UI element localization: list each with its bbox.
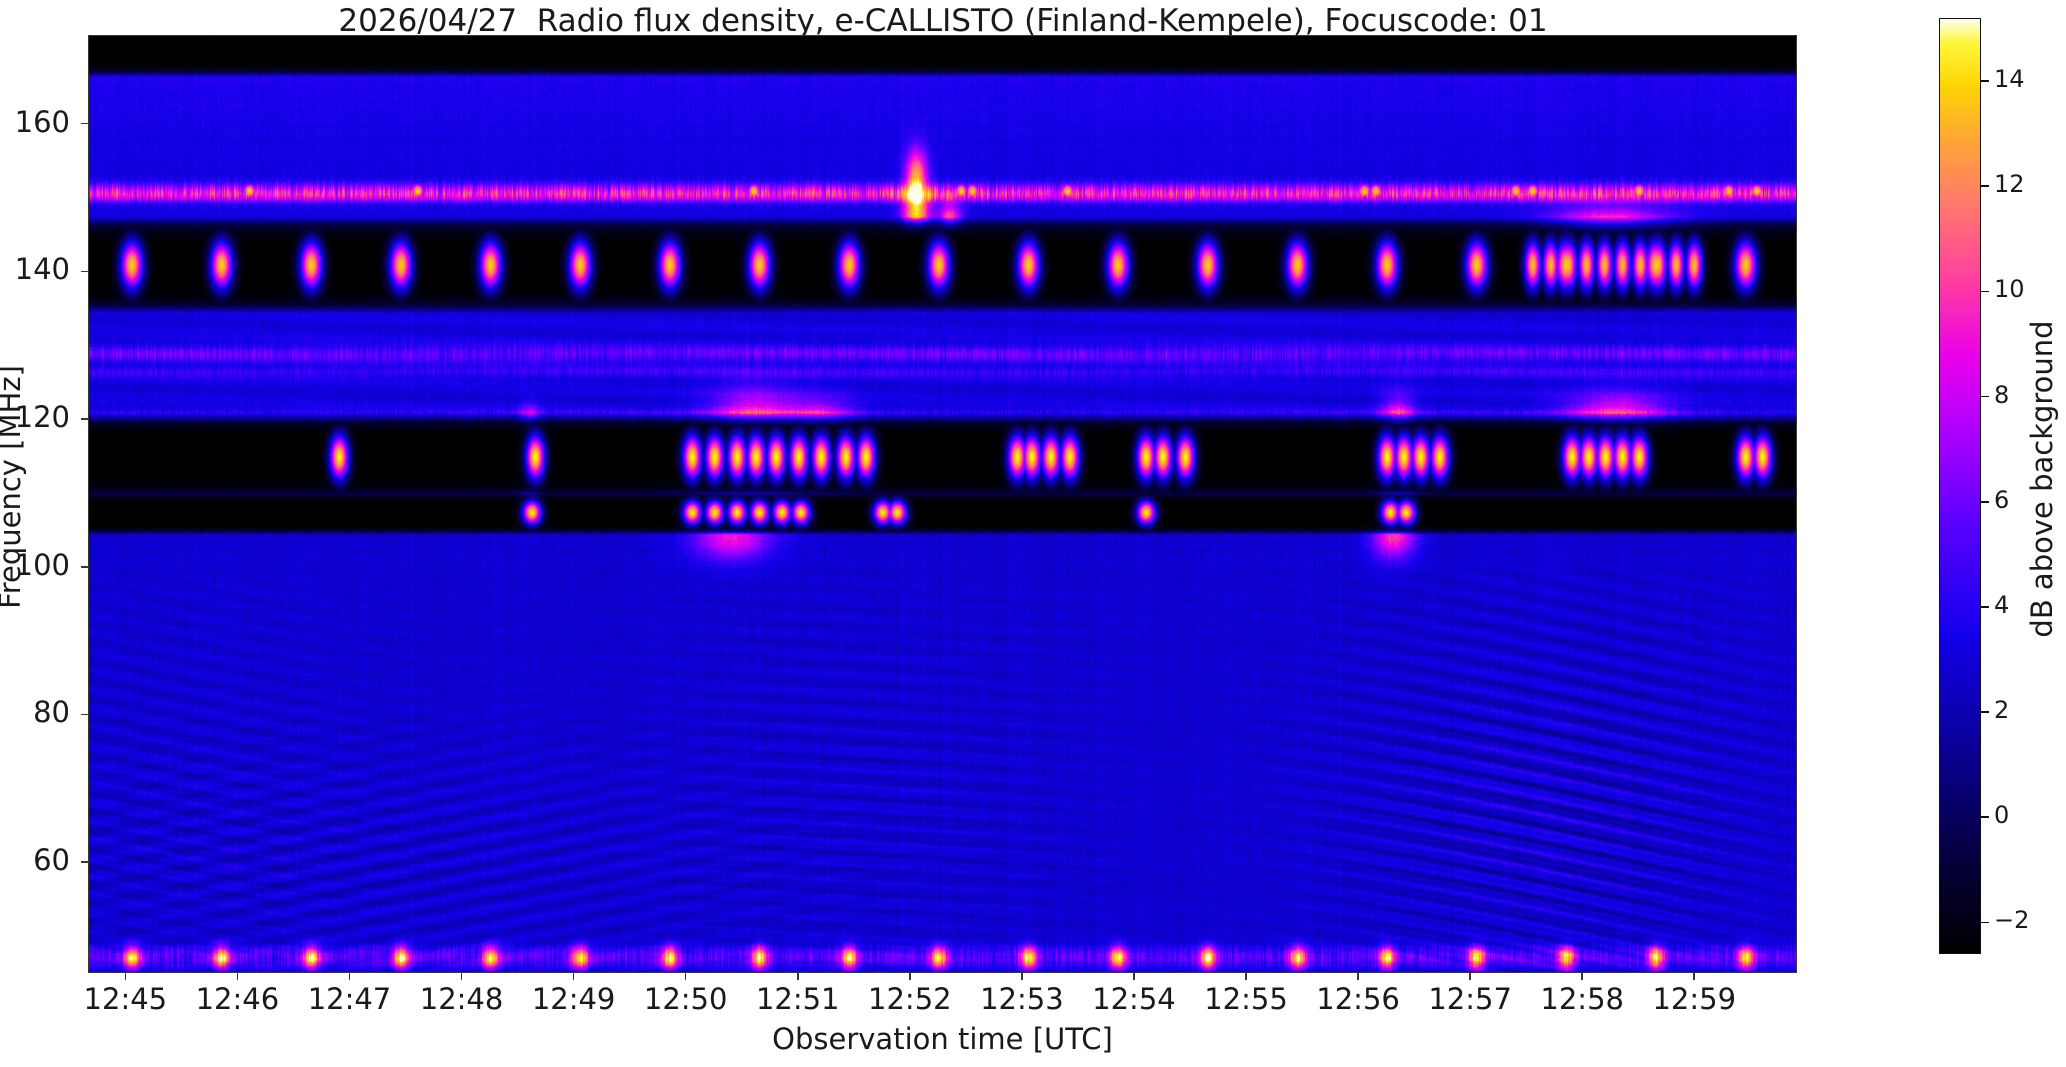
page-title: 2026/04/27 Radio flux density, e-CALLIST…: [88, 4, 1798, 38]
x-tick-mark: [1469, 973, 1471, 980]
x-tick-mark: [237, 973, 239, 980]
spectrogram-image: [89, 36, 1797, 973]
colorbar-tick-mark: [1981, 291, 1989, 293]
y-tick-label: 120: [6, 400, 70, 434]
colorbar-label: dB above background: [2025, 199, 2059, 759]
x-tick-mark: [573, 973, 575, 980]
y-axis-label: Frequency [MHz]: [0, 17, 27, 957]
y-tick-label: 100: [6, 548, 70, 582]
x-tick-mark: [1693, 973, 1695, 980]
x-tick-mark: [685, 973, 687, 980]
colorbar-tick-label: 8: [1994, 381, 2009, 409]
x-tick-mark: [1357, 973, 1359, 980]
colorbar-tick-label: 2: [1994, 696, 2009, 724]
y-tick-mark: [81, 123, 88, 125]
x-tick-label: 12:59: [1624, 982, 1764, 1016]
colorbar-tick-label: 14: [1994, 65, 2025, 93]
figure-canvas: 2026/04/27 Radio flux density, e-CALLIST…: [0, 0, 2066, 1067]
y-tick-label: 60: [6, 843, 70, 877]
x-tick-mark: [909, 973, 911, 980]
colorbar-tick-label: 10: [1994, 275, 2025, 303]
colorbar-tick-mark: [1981, 501, 1989, 503]
y-tick-mark: [81, 418, 88, 420]
x-tick-mark: [797, 973, 799, 980]
colorbar-tick-mark: [1981, 396, 1989, 398]
colorbar-tick-mark: [1981, 606, 1989, 608]
colorbar: [1939, 18, 1981, 954]
x-tick-mark: [1021, 973, 1023, 980]
colorbar-tick-mark: [1981, 816, 1989, 818]
y-tick-label: 140: [6, 252, 70, 286]
x-tick-mark: [125, 973, 127, 980]
colorbar-tick-mark: [1981, 711, 1989, 713]
y-tick-mark: [81, 566, 88, 568]
colorbar-tick-mark: [1981, 185, 1989, 187]
colorbar-tick-mark: [1981, 922, 1989, 924]
y-tick-mark: [81, 271, 88, 273]
x-tick-mark: [349, 973, 351, 980]
colorbar-tick-label: −2: [1994, 906, 2029, 934]
colorbar-tick-label: 6: [1994, 486, 2009, 514]
x-tick-mark: [1245, 973, 1247, 980]
colorbar-tick-label: 4: [1994, 591, 2009, 619]
colorbar-tick-mark: [1981, 80, 1989, 82]
y-tick-mark: [81, 714, 88, 716]
y-tick-label: 160: [6, 105, 70, 139]
y-tick-mark: [81, 861, 88, 863]
spectrogram-axes[interactable]: [88, 35, 1797, 973]
x-tick-mark: [461, 973, 463, 980]
colorbar-gradient: [1940, 19, 1980, 953]
x-tick-mark: [1581, 973, 1583, 980]
y-tick-label: 80: [6, 695, 70, 729]
colorbar-tick-label: 12: [1994, 170, 2025, 198]
x-axis-label: Observation time [UTC]: [88, 1022, 1797, 1056]
colorbar-tick-label: 0: [1994, 801, 2009, 829]
x-tick-mark: [1133, 973, 1135, 980]
